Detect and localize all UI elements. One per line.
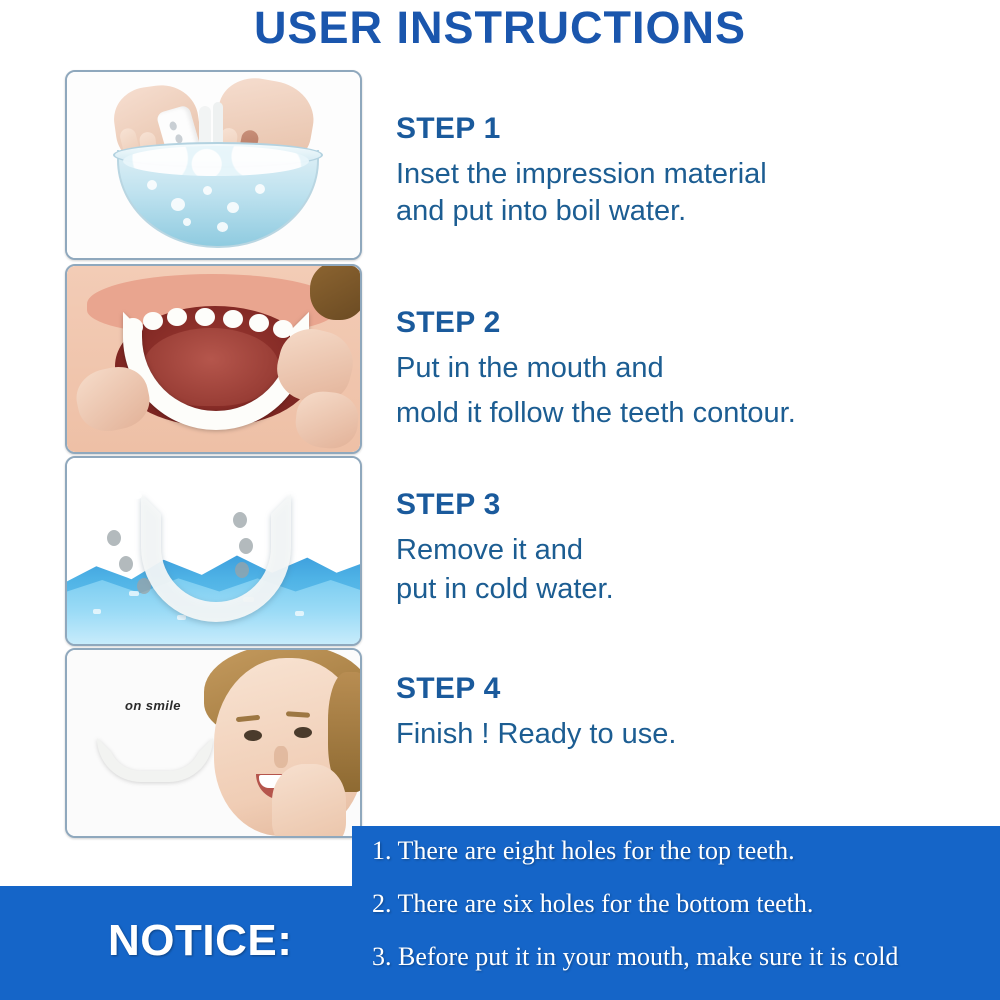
on-smile-caption: on smile [125, 698, 181, 713]
step-1-text: STEP 1 Inset the impression material and… [396, 112, 767, 228]
notice-item-1: 1. There are eight holes for the top tee… [372, 836, 996, 866]
step-2-label: STEP 2 [396, 306, 796, 340]
tooth-shape [167, 308, 187, 326]
tooth-shape [223, 310, 243, 328]
step-4-label: STEP 4 [396, 672, 676, 706]
notice-item-3: 3. Before put it in your mouth, make sur… [372, 942, 996, 972]
hair-shape [310, 266, 360, 320]
step-2-line-1: Put in the mouth and [396, 352, 796, 385]
tooth-shape [123, 318, 143, 336]
step-4-illustration: on smile [67, 650, 360, 836]
step-1-line-1: Inset the impression material [396, 158, 767, 191]
tray-hole-shape [233, 512, 247, 528]
step-3-line-1: Remove it and [396, 534, 614, 567]
step-3-image [65, 456, 362, 646]
step-4-image: on smile [65, 648, 362, 838]
step-4-line-1: Finish ! Ready to use. [396, 718, 676, 751]
step-4-text: STEP 4 Finish ! Ready to use. [396, 672, 676, 751]
tray-hole-shape [235, 562, 249, 578]
notice-label: NOTICE: [108, 916, 292, 966]
notice-list: 1. There are eight holes for the top tee… [372, 836, 996, 995]
step-2-text: STEP 2 Put in the mouth and mold it foll… [396, 306, 796, 430]
step-1-image [65, 70, 362, 260]
step-3-line-2: put in cold water. [396, 573, 614, 606]
finger-shape [293, 389, 360, 451]
boiling-foam-shape [123, 146, 309, 176]
step-1-label: STEP 1 [396, 112, 767, 146]
tray-hole-shape [107, 530, 121, 546]
tooth-shape [249, 314, 269, 332]
eye-shape [244, 730, 262, 741]
tooth-shape [143, 312, 163, 330]
tray-hole-shape [137, 578, 151, 594]
instruction-poster: USER INSTRUCTIONS [0, 0, 1000, 1000]
page-title: USER INSTRUCTIONS [0, 2, 1000, 54]
step-2-image [65, 264, 362, 454]
step-1-illustration [67, 72, 360, 258]
tooth-shape [195, 308, 215, 326]
step-2-line-2: mold it follow the teeth contour. [396, 397, 796, 430]
hand-shape [272, 764, 346, 836]
step-1-line-2: and put into boil water. [396, 195, 767, 228]
nose-shape [274, 746, 288, 768]
veneer-product-shape [97, 738, 213, 782]
step-3-text: STEP 3 Remove it and put in cold water. [396, 488, 614, 606]
step-2-illustration [67, 266, 360, 452]
notice-item-2: 2. There are six holes for the bottom te… [372, 889, 996, 919]
step-3-label: STEP 3 [396, 488, 614, 522]
step-3-illustration [67, 458, 360, 644]
tray-hole-shape [119, 556, 133, 572]
tray-hole-shape [239, 538, 253, 554]
eye-shape [294, 727, 312, 738]
